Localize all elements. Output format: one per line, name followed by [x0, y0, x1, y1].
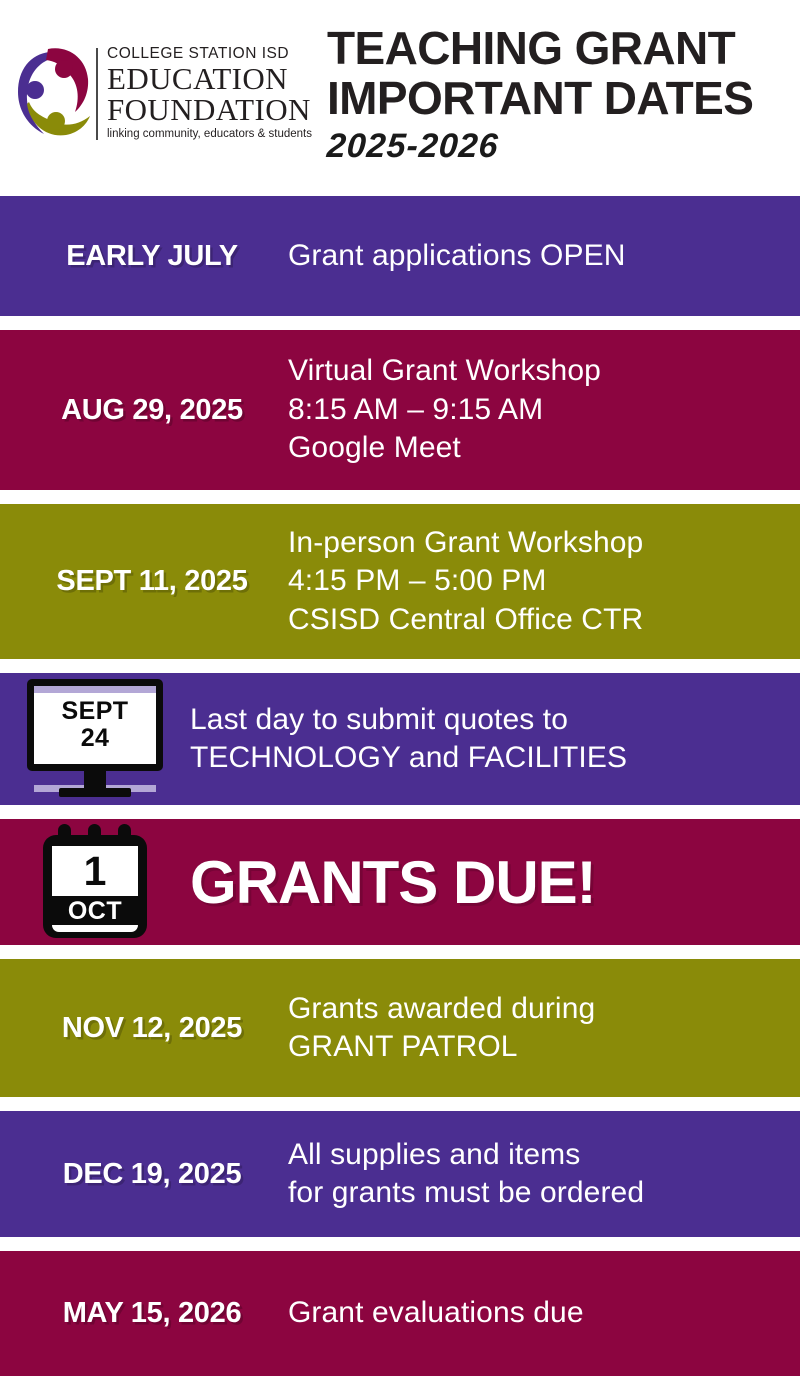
calendar-month-label: OCT [52, 896, 138, 926]
date-cell: EARLY JULY [0, 240, 288, 273]
description-line: All supplies and items [288, 1136, 782, 1174]
description-line: 4:15 PM – 5:00 PM [288, 562, 782, 600]
monitor-icon: SEPT 24 [27, 679, 163, 799]
title-line-2: IMPORTANT DATES [327, 74, 797, 124]
date-label: MAY 15, 2026 [63, 1297, 242, 1330]
logo-tagline: linking community, educators & students [107, 128, 312, 142]
calendar-foot [52, 925, 138, 932]
page-title: TEACHING GRANT IMPORTANT DATES 2025-2026 [327, 24, 797, 163]
description-line: CSISD Central Office CTR [288, 601, 782, 639]
date-cell: SEPT 11, 2025 [0, 565, 288, 598]
icon-cell: SEPT 24 [0, 679, 190, 799]
timeline-row-may-15-2026: MAY 15, 2026 Grant evaluations due [0, 1251, 800, 1376]
description-line: for grants must be ordered [288, 1174, 782, 1212]
timeline-row-early-july: EARLY JULY Grant applications OPEN [0, 196, 800, 316]
date-cell: AUG 29, 2025 [0, 394, 288, 427]
description-cell: Grant evaluations due [288, 1294, 800, 1332]
description-line: Last day to submit quotes to [190, 701, 790, 739]
date-label: AUG 29, 2025 [61, 394, 243, 427]
description-cell: GRANTS DUE! [190, 848, 800, 917]
description-line: Grant applications OPEN [288, 237, 782, 275]
logo-line-foundation: FOUNDATION [107, 94, 312, 125]
monitor-month-label: SEPT [62, 698, 129, 725]
monitor-screen-text: SEPT 24 [34, 693, 156, 757]
description-line: Google Meet [288, 429, 782, 467]
monitor-stand-neck [84, 771, 106, 788]
description-cell: Grant applications OPEN [288, 237, 800, 275]
date-cell: NOV 12, 2025 [0, 1012, 288, 1045]
date-label: DEC 19, 2025 [63, 1158, 242, 1191]
timeline-row-dec-19-2025: DEC 19, 2025 All supplies and items for … [0, 1111, 800, 1237]
page-header: COLLEGE STATION ISD EDUCATION FOUNDATION… [0, 0, 800, 196]
description-cell: Last day to submit quotes to TECHNOLOGY … [190, 701, 800, 778]
description-line: 8:15 AM – 9:15 AM [288, 391, 782, 429]
organization-logo: COLLEGE STATION ISD EDUCATION FOUNDATION… [14, 42, 312, 146]
date-label: NOV 12, 2025 [62, 1012, 242, 1045]
timeline-row-oct-1-grants-due: 1 OCT GRANTS DUE! [0, 819, 800, 945]
description-line: In-person Grant Workshop [288, 524, 782, 562]
timeline-row-sept-24-quotes: SEPT 24 Last day to submit quotes to TEC… [0, 673, 800, 805]
logo-line-education: EDUCATION [107, 63, 312, 94]
description-cell: In-person Grant Workshop 4:15 PM – 5:00 … [288, 524, 800, 639]
calendar-day-label: 1 [52, 846, 138, 896]
description-line: GRANT PATROL [288, 1028, 782, 1066]
description-cell: Virtual Grant Workshop 8:15 AM – 9:15 AM… [288, 352, 800, 467]
description-line: Virtual Grant Workshop [288, 352, 782, 390]
date-cell: MAY 15, 2026 [0, 1297, 288, 1330]
logo-divider [96, 48, 98, 140]
monitor-screen-band-top [34, 686, 156, 693]
date-cell: DEC 19, 2025 [0, 1158, 288, 1191]
description-cell: Grants awarded during GRANT PATROL [288, 990, 800, 1067]
csisd-education-foundation-swirl-logo [14, 42, 92, 146]
date-label: SEPT 11, 2025 [56, 565, 247, 598]
icon-cell: 1 OCT [0, 824, 190, 940]
timeline-rows: EARLY JULY Grant applications OPEN AUG 2… [0, 196, 800, 1376]
description-line: Grants awarded during [288, 990, 782, 1028]
title-school-year: 2025-2026 [326, 129, 798, 163]
description-line: Grant evaluations due [288, 1294, 782, 1332]
calendar-icon: 1 OCT [39, 824, 151, 940]
monitor-day-label: 24 [81, 725, 110, 752]
timeline-row-sept-11-2025: SEPT 11, 2025 In-person Grant Workshop 4… [0, 504, 800, 659]
timeline-row-nov-12-2025: NOV 12, 2025 Grants awarded during GRANT… [0, 959, 800, 1097]
description-cell: All supplies and items for grants must b… [288, 1136, 800, 1213]
grants-due-headline: GRANTS DUE! [190, 848, 790, 917]
monitor-stand-base [59, 788, 131, 797]
timeline-row-aug-29-2025: AUG 29, 2025 Virtual Grant Workshop 8:15… [0, 330, 800, 490]
description-line: TECHNOLOGY and FACILITIES [190, 739, 790, 777]
date-label: EARLY JULY [66, 240, 238, 273]
title-line-1: TEACHING GRANT [327, 24, 797, 74]
